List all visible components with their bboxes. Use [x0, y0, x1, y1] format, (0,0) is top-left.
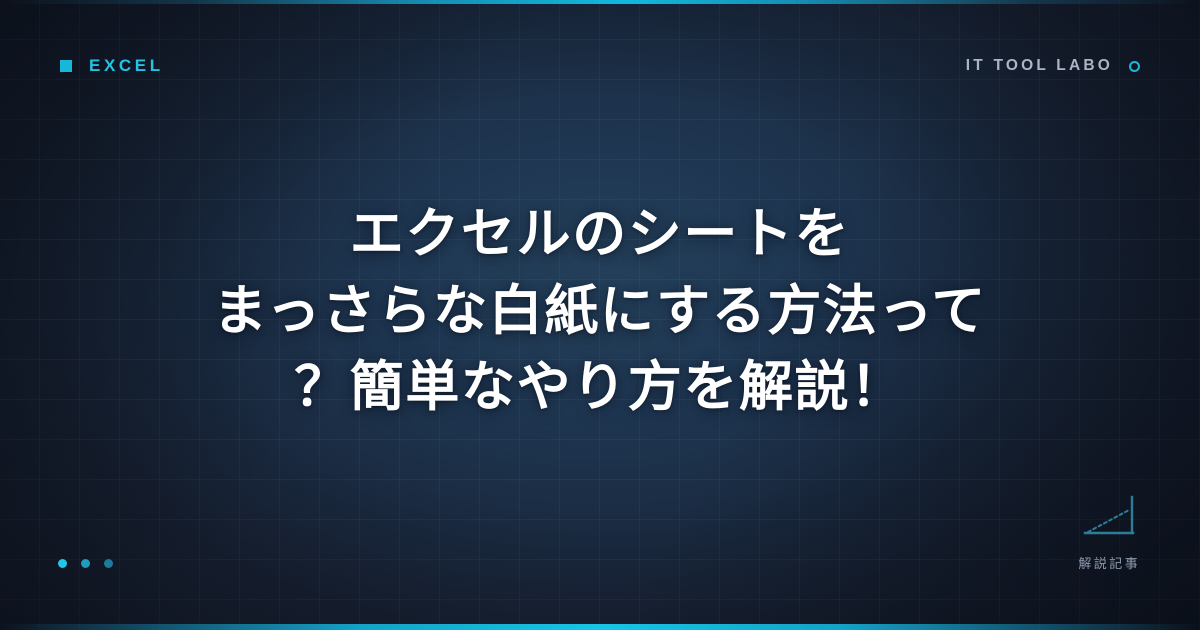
title-area: エクセルのシートを まっさらな白紙にする方法って ？簡単なやり方を解説！ [0, 0, 1200, 630]
title-line-3: ？簡単なやり方を解説！ [213, 349, 987, 426]
article-type-label: 解説記事 [1078, 553, 1140, 572]
title-line-2: まっさらな白紙にする方法って [213, 273, 987, 350]
article-type-badge: 解説記事 [1078, 491, 1140, 572]
title-line-1: エクセルのシートを [213, 196, 987, 273]
decorative-dots [58, 559, 113, 568]
line-chart-icon [1079, 491, 1139, 539]
ogp-card: EXCEL IT TOOL LABO エクセルのシートを まっさらな白紙にする方… [0, 0, 1200, 630]
dot-2 [81, 559, 90, 568]
dot-3 [104, 559, 113, 568]
dot-1 [58, 559, 67, 568]
page-title: エクセルのシートを まっさらな白紙にする方法って ？簡単なやり方を解説！ [213, 196, 987, 426]
